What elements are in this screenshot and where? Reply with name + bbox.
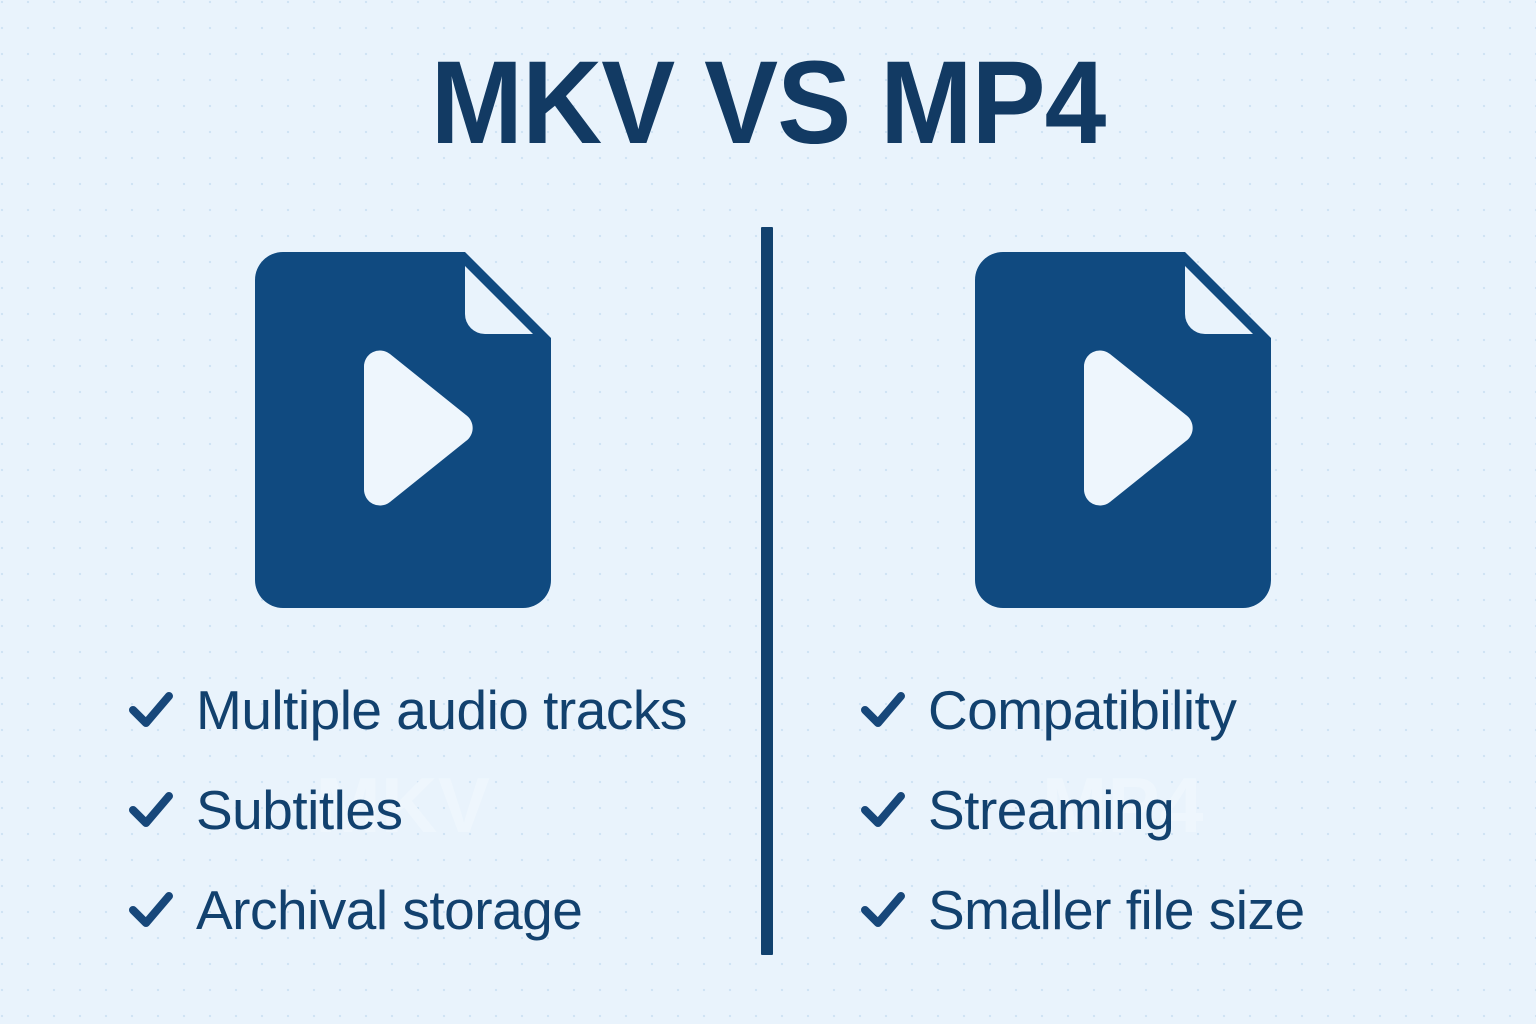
feature-label: Multiple audio tracks [196,680,687,740]
file-icon-mkv: MKV [255,252,551,608]
feature-list-mp4: Compatibility Streaming Smaller file siz… [860,660,1305,960]
list-item: Archival storage [128,860,687,960]
feature-label: Compatibility [928,680,1236,740]
feature-label: Archival storage [196,880,582,940]
column-mp4: MP4 Compatibility Streaming Smaller file… [774,0,1536,1024]
list-item: Compatibility [860,660,1305,760]
check-icon [128,687,174,733]
check-icon [128,887,174,933]
list-item: Streaming [860,760,1305,860]
check-icon [860,787,906,833]
list-item: Smaller file size [860,860,1305,960]
check-icon [860,687,906,733]
vertical-divider [761,227,773,955]
list-item: Subtitles [128,760,687,860]
feature-label: Smaller file size [928,880,1305,940]
feature-label: Streaming [928,780,1174,840]
column-mkv: MKV Multiple audio tracks Subtitles Arch… [0,0,762,1024]
infographic-canvas: MKV VS MP4 MKV Multiple audio tracks [0,0,1536,1024]
check-icon [128,787,174,833]
file-with-folded-corner-icon [255,252,551,608]
feature-list-mkv: Multiple audio tracks Subtitles Archival… [128,660,687,960]
file-with-folded-corner-icon [975,252,1271,608]
check-icon [860,887,906,933]
list-item: Multiple audio tracks [128,660,687,760]
file-icon-mp4: MP4 [975,252,1271,608]
feature-label: Subtitles [196,780,402,840]
